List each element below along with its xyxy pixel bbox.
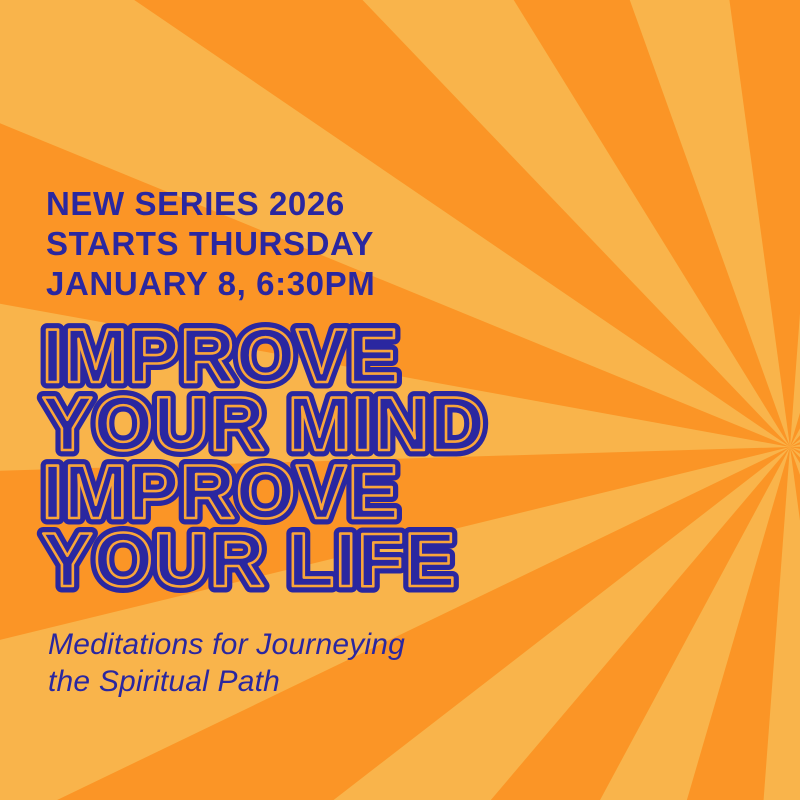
event-details-block: NEW SERIES 2026 STARTS THURSDAY JANUARY … xyxy=(46,184,375,304)
promotional-poster: NEW SERIES 2026 STARTS THURSDAY JANUARY … xyxy=(0,0,800,800)
subtitle-line-1: Meditations for Journeying xyxy=(48,626,405,663)
subtitle-line-2: the Spiritual Path xyxy=(48,663,405,700)
headline-line-4-inline: YOUR LIFE xyxy=(42,518,456,603)
eyebrow-line-date-time: JANUARY 8, 6:30PM xyxy=(46,264,375,304)
headline-block: IMPROVE IMPROVE YOUR MIND YOUR MIND IMPR… xyxy=(40,326,510,598)
headline-line-4: YOUR LIFE YOUR LIFE xyxy=(40,530,510,598)
poster-content: NEW SERIES 2026 STARTS THURSDAY JANUARY … xyxy=(0,0,800,800)
eyebrow-line-day: STARTS THURSDAY xyxy=(46,224,375,264)
subtitle-block: Meditations for Journeying the Spiritual… xyxy=(48,626,405,700)
eyebrow-line-series: NEW SERIES 2026 xyxy=(46,184,375,224)
